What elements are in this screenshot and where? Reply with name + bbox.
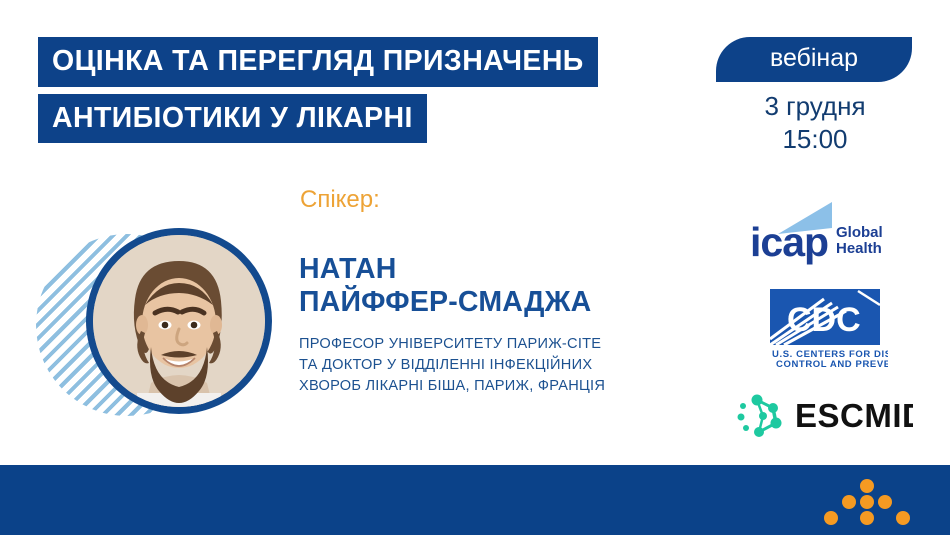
schedule: 3 грудня 15:00 <box>700 90 930 157</box>
credentials-line-1: ПРОФЕСОР УНІВЕРСИТЕТУ ПАРИЖ-СІТЕ <box>299 334 605 355</box>
svg-text:ESCMID: ESCMID <box>795 397 913 434</box>
webinar-poster: ОЦІНКА ТА ПЕРЕГЛЯД ПРИЗНАЧЕНЬ АНТИБІОТИК… <box>0 0 950 535</box>
title-line-2: АНТИБІОТИКИ У ЛІКАРНІ <box>38 94 427 144</box>
speaker-name: НАТАН ПАЙФФЕР-СМАДЖА <box>299 253 591 320</box>
credentials-line-3: ХВОРОБ ЛІКАРНІ БІША, ПАРИЖ, ФРАНЦІЯ <box>299 376 605 397</box>
footer-dot-pattern <box>812 479 922 525</box>
cdc-logo-graphic: CDC U.S. CENTERS FOR DISEASE CONTROL AND… <box>762 289 888 369</box>
svg-text:Global: Global <box>836 224 883 241</box>
portrait-image <box>93 235 265 407</box>
webinar-badge: вебінар <box>716 37 912 82</box>
page-title: ОЦІНКА ТА ПЕРЕГЛЯД ПРИЗНАЧЕНЬ АНТИБІОТИК… <box>38 37 598 143</box>
svg-text:CONTROL AND PREVENTION: CONTROL AND PREVENTION <box>776 359 888 369</box>
escmid-logo-graphic: ESCMID <box>733 390 913 440</box>
title-line-1: ОЦІНКА ТА ПЕРЕГЛЯД ПРИЗНАЧЕНЬ <box>38 37 598 87</box>
footer-dot <box>842 495 856 509</box>
footer-dot <box>860 479 874 493</box>
speaker-credentials: ПРОФЕСОР УНІВЕРСИТЕТУ ПАРИЖ-СІТЕ ТА ДОКТ… <box>299 334 605 397</box>
escmid-logo: ESCMID <box>733 390 913 440</box>
credentials-line-2: ТА ДОКТОР У ВІДДІЛЕННІ ІНФЕКЦІЙНИХ <box>299 355 605 376</box>
footer-dot <box>824 511 838 525</box>
footer-dot <box>860 495 874 509</box>
footer-dot <box>896 511 910 525</box>
icap-logo-graphic: icap Global Health <box>748 200 898 270</box>
portrait-ring <box>86 228 272 414</box>
cdc-logo: CDC U.S. CENTERS FOR DISEASE CONTROL AND… <box>762 289 888 369</box>
svg-text:Health: Health <box>836 240 882 257</box>
svg-text:icap: icap <box>750 219 828 265</box>
event-time: 15:00 <box>700 123 930 156</box>
webinar-badge-label: вебінар <box>716 37 912 82</box>
speaker-photo <box>36 228 272 424</box>
speaker-name-line-2: ПАЙФФЕР-СМАДЖА <box>299 286 591 319</box>
footer-dot <box>878 495 892 509</box>
svg-text:CDC: CDC <box>787 301 861 339</box>
event-date: 3 грудня <box>700 90 930 123</box>
footer-bar <box>0 465 950 535</box>
footer-dot <box>860 511 874 525</box>
icap-logo: icap Global Health <box>748 200 898 270</box>
portrait-illustration <box>93 235 265 407</box>
speaker-label: Спікер: <box>300 188 380 212</box>
speaker-name-line-1: НАТАН <box>299 253 591 286</box>
